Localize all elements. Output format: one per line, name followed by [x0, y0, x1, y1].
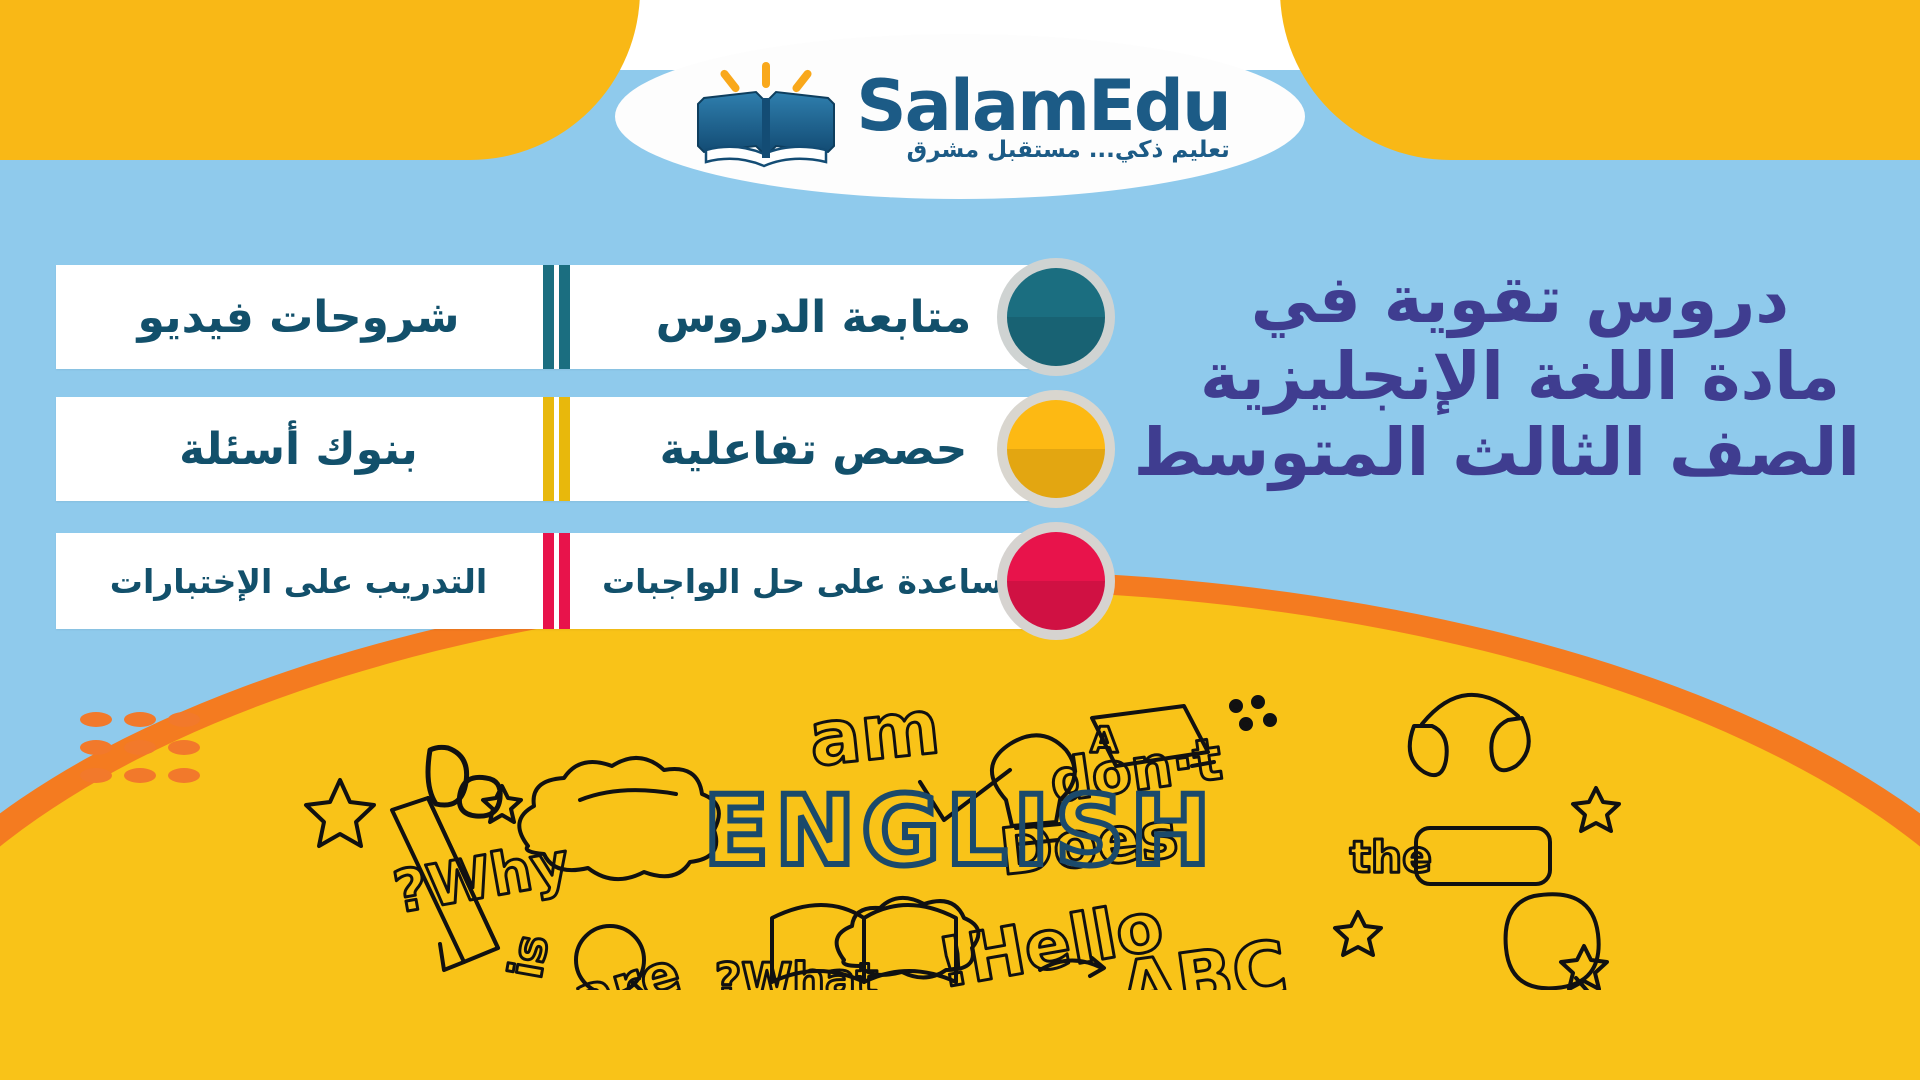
headline-line-1: دروس تقوية في [1180, 262, 1860, 339]
feature-divider [541, 397, 571, 501]
feature-label-right: مساعدة على حل الواجبات [571, 562, 1056, 601]
headline-line-3: الصف الثالث المتوسط [1180, 415, 1860, 492]
feature-label-left: التدريب على الإختبارات [56, 562, 541, 601]
book-glyph [696, 88, 836, 168]
knob-disc [1007, 400, 1105, 498]
dot [124, 740, 156, 755]
feature-bar: متابعة الدروس شروحات فيديو [56, 265, 1056, 369]
english-doodle-group: Why? am A [0, 590, 1920, 1080]
brand-text: SalamEdu تعليم ذكي... مستقبل مشرق [856, 71, 1230, 162]
top-frame-corner-right [1280, 0, 1920, 160]
feature-divider [541, 265, 571, 369]
feature-knob-red [997, 522, 1115, 640]
svg-text:are: are [566, 938, 688, 990]
svg-text:the: the [1350, 832, 1432, 883]
doodle-sketches: Why? am A [280, 660, 1640, 990]
page-title: دروس تقوية في مادة اللغة الإنجليزية الصف… [1180, 262, 1860, 492]
headline-line-2: مادة اللغة الإنجليزية [1180, 339, 1860, 416]
svg-text:What?: What? [715, 953, 878, 990]
top-frame-corner-left [0, 0, 640, 160]
feature-list: متابعة الدروس شروحات فيديو حصص تفاعلية ب… [56, 258, 1056, 654]
svg-text:Why?: Why? [389, 829, 575, 927]
svg-text:A: A [1090, 720, 1118, 761]
feature-bar: حصص تفاعلية بنوك أسئلة [56, 397, 1056, 501]
svg-text:ABC: ABC [1114, 925, 1292, 990]
brand-name: SalamEdu [856, 71, 1230, 141]
feature-divider [541, 533, 571, 629]
dot [168, 740, 200, 755]
feature-row-exams[interactable]: مساعدة على حل الواجبات التدريب على الإخت… [56, 522, 1056, 640]
svg-text:is: is [498, 931, 559, 983]
dot [168, 768, 200, 783]
feature-label-left: بنوك أسئلة [56, 424, 541, 475]
open-book-icon [690, 62, 840, 172]
english-wordart: ENGLISH [610, 772, 1310, 896]
decorative-dots [68, 712, 200, 796]
english-letters: ENGLISH [610, 772, 1310, 892]
feature-label-left: شروحات فيديو [56, 292, 541, 343]
dot [80, 712, 112, 727]
feature-row-interactive[interactable]: حصص تفاعلية بنوك أسئلة [56, 390, 1056, 508]
feature-bar: مساعدة على حل الواجبات التدريب على الإخت… [56, 533, 1056, 629]
dot [124, 712, 156, 727]
poster-canvas: Why? am A [0, 0, 1920, 1080]
feature-knob-teal [997, 258, 1115, 376]
bottom-ellipse-fill: Why? am A [0, 590, 1920, 1080]
dot [80, 740, 112, 755]
feature-knob-yellow [997, 390, 1115, 508]
knob-disc [1007, 532, 1105, 630]
english-text: ENGLISH [703, 775, 1216, 887]
svg-text:Hello!: Hello! [931, 887, 1169, 990]
svg-text:am: am [805, 681, 944, 783]
feature-label-right: حصص تفاعلية [571, 424, 1056, 475]
knob-disc [1007, 268, 1105, 366]
feature-row-video[interactable]: متابعة الدروس شروحات فيديو [56, 258, 1056, 376]
dot [124, 768, 156, 783]
svg-text:Does: Does [996, 798, 1181, 890]
brand-tagline: تعليم ذكي... مستقبل مشرق [907, 139, 1230, 162]
svg-text:don·t: don·t [1046, 725, 1226, 816]
dot [80, 768, 112, 783]
brand-logo-badge: SalamEdu تعليم ذكي... مستقبل مشرق [615, 34, 1305, 199]
feature-label-right: متابعة الدروس [571, 292, 1056, 343]
dot [168, 712, 200, 727]
